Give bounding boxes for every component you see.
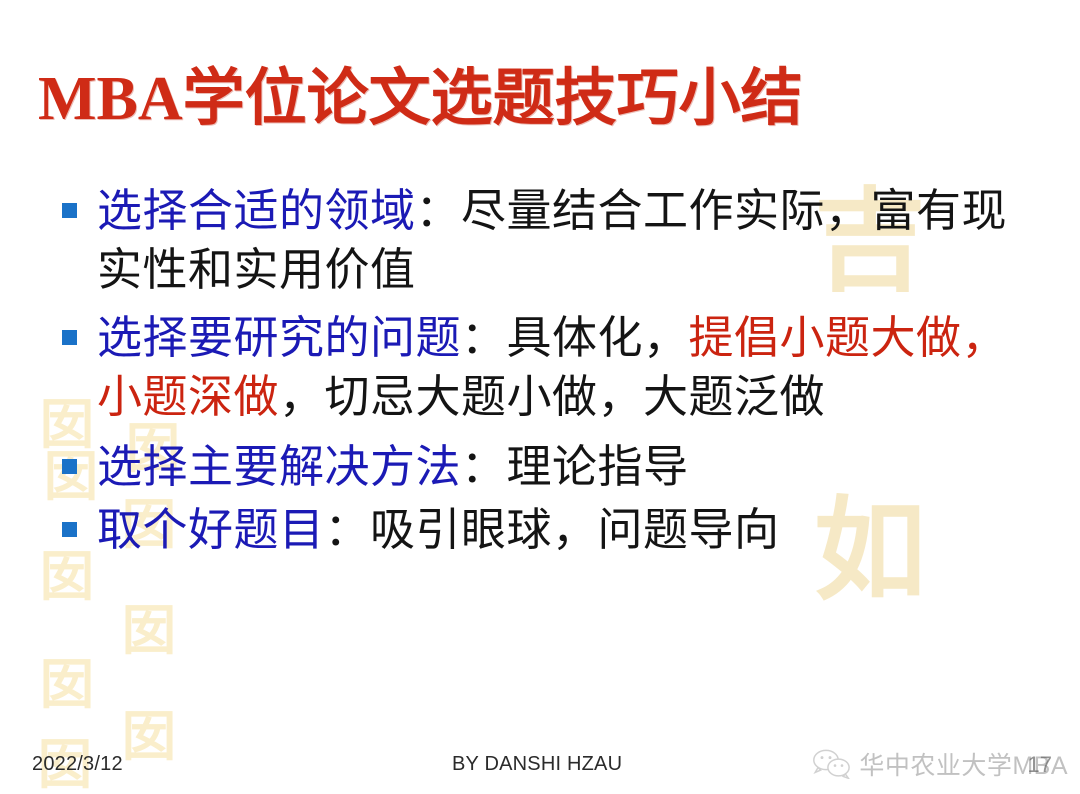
square-bullet-icon	[62, 203, 77, 218]
list-item-text: 选择合适的领域：尽量结合工作实际，富有现实性和实用价值	[97, 182, 1030, 301]
list-item: 选择要研究的问题：具体化，提倡小题大做，小题深做，切忌大题小做，大题泛做	[62, 309, 1030, 428]
list-item-text: 取个好题目：吸引眼球，问题导向	[97, 501, 1030, 560]
bullet-list: 选择合适的领域：尽量结合工作实际，富有现实性和实用价值 选择要研究的问题：具体化…	[62, 182, 1030, 566]
page-number: 17	[1028, 752, 1052, 778]
list-item-body: ：具体化，	[461, 313, 689, 363]
list-item-text: 选择要研究的问题：具体化，提倡小题大做，小题深做，切忌大题小做，大题泛做	[97, 309, 1030, 428]
square-bullet-icon	[62, 459, 77, 474]
left-watermark-mark: 囡	[122, 710, 176, 764]
left-watermark-mark: 囡	[40, 658, 94, 712]
footer-author: BY DANSHI HZAU	[452, 753, 622, 776]
list-item-heading: 选择要研究的问题	[97, 313, 461, 363]
list-item: 选择合适的领域：尽量结合工作实际，富有现实性和实用价值	[62, 182, 1030, 301]
square-bullet-icon	[62, 330, 77, 345]
list-item: 取个好题目：吸引眼球，问题导向	[62, 501, 1030, 560]
list-item-heading: 选择合适的领域	[97, 186, 416, 236]
decorative-calligraphy-watermark: 吉 如	[814, 0, 1074, 196]
presentation-slide: 吉 如 囡 囡 囡 囡 囡 囡 囡 囡 囡 MBA学位论文选题技巧小结 选择合适…	[0, 0, 1080, 794]
left-watermark-mark: 囡	[122, 604, 176, 658]
list-item-body-tail: ，切忌大题小做，大题泛做	[279, 372, 825, 422]
footer-date: 2022/3/12	[32, 753, 123, 776]
list-item-body: ：理论指导	[461, 442, 689, 492]
list-item-body: ：吸引眼球，问题导向	[325, 505, 780, 555]
list-item: 选择主要解决方法：理论指导	[62, 438, 1030, 497]
list-item-heading: 取个好题目	[97, 505, 325, 555]
slide-title: MBA学位论文选题技巧小结	[38, 66, 803, 133]
list-item-text: 选择主要解决方法：理论指导	[97, 438, 1030, 497]
square-bullet-icon	[62, 522, 77, 537]
list-item-heading: 选择主要解决方法	[97, 442, 461, 492]
wechat-icon	[813, 749, 851, 779]
